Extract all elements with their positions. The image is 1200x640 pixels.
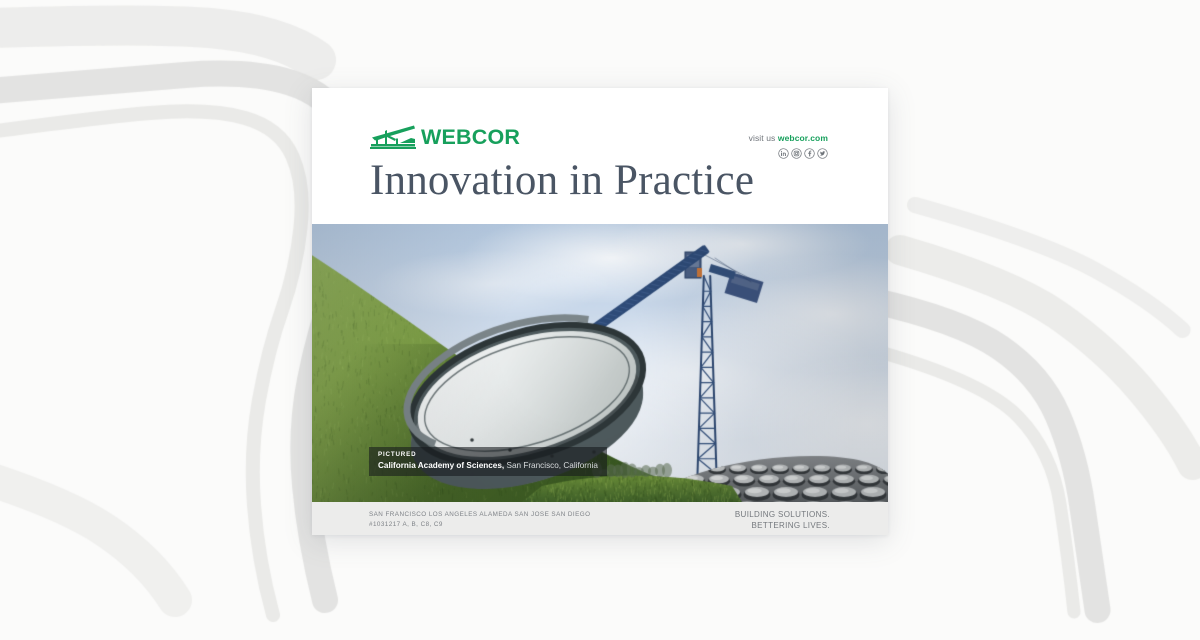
linkedin-icon[interactable] (778, 148, 789, 159)
card-header: WEBCOR visit us webcor.com (312, 88, 888, 224)
caption-text: California Academy of Sciences, San Fran… (378, 460, 598, 471)
caption-kicker: PICTURED (378, 451, 598, 459)
visit-us-prefix: visit us (749, 133, 778, 143)
tagline-line-2: BETTERING LIVES. (735, 520, 830, 531)
brand-logo[interactable]: WEBCOR (370, 124, 520, 149)
footer-license: #1031217 A, B, C8, C9 (369, 520, 590, 530)
social-links (749, 148, 828, 159)
brochure-card: WEBCOR visit us webcor.com (312, 88, 888, 535)
tagline-line-1: BUILDING SOLUTIONS. (735, 509, 830, 520)
footer-offices-block: SAN FRANCISCO LOS ANGELES ALAMEDA SAN JO… (369, 510, 590, 531)
footer-offices: SAN FRANCISCO LOS ANGELES ALAMEDA SAN JO… (369, 510, 590, 520)
card-footer: SAN FRANCISCO LOS ANGELES ALAMEDA SAN JO… (312, 502, 888, 535)
facebook-icon[interactable] (804, 148, 815, 159)
webcor-crane-logo-icon (370, 124, 416, 149)
instagram-icon[interactable] (791, 148, 802, 159)
brand-wordmark: WEBCOR (421, 127, 520, 149)
footer-tagline-block: BUILDING SOLUTIONS. BETTERING LIVES. (735, 509, 830, 532)
photo-caption: PICTURED California Academy of Sciences,… (369, 447, 607, 476)
page-title: Innovation in Practice (370, 158, 754, 204)
visit-us-block: visit us webcor.com (749, 134, 828, 159)
website-link[interactable]: webcor.com (778, 133, 828, 143)
caption-location: San Francisco, California (504, 461, 598, 470)
twitter-icon[interactable] (817, 148, 828, 159)
visit-us-line: visit us webcor.com (749, 134, 828, 143)
caption-project: California Academy of Sciences, (378, 461, 504, 470)
hero-image: PICTURED California Academy of Sciences,… (312, 224, 888, 502)
